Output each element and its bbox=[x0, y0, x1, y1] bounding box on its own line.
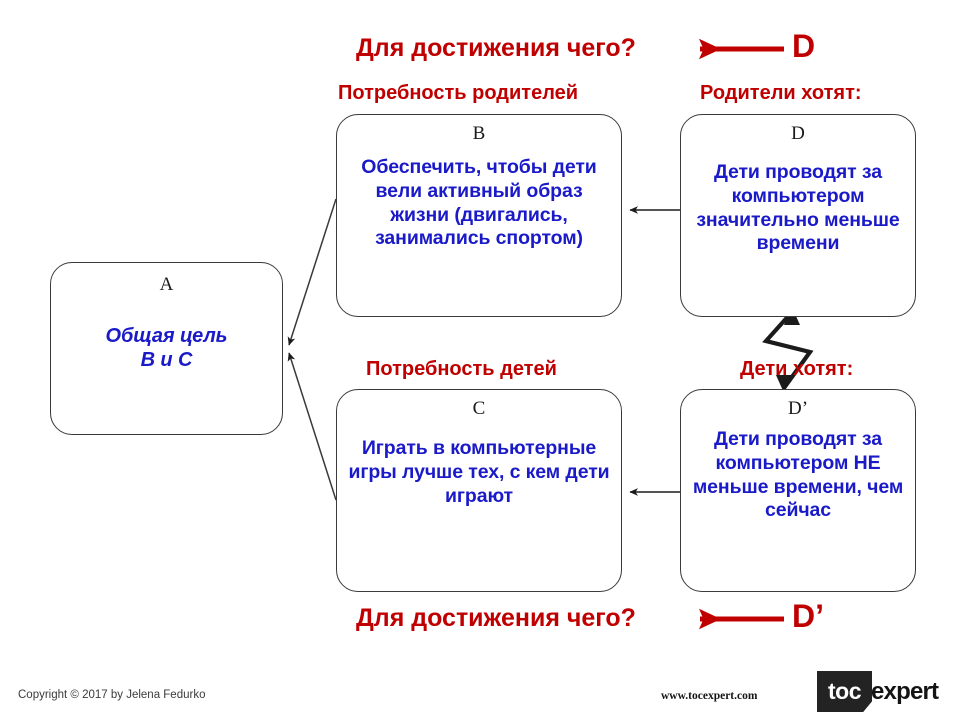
node-d-parents-want[interactable]: D Дети проводят за компьютером значитель… bbox=[680, 114, 916, 317]
node-dprime-children-want[interactable]: D’ Дети проводят за компьютером НЕ меньш… bbox=[680, 389, 916, 592]
connector-b-to-a bbox=[289, 199, 336, 345]
goal-question-bottom: Для достижения чего? bbox=[356, 604, 636, 633]
tocexpert-logo: toc expert bbox=[817, 671, 945, 712]
node-c-child-need[interactable]: C Играть в компьютерные игры лучше тех, … bbox=[336, 389, 622, 592]
logo-mark-toc: toc bbox=[817, 671, 872, 712]
node-d-tag: D bbox=[791, 124, 805, 143]
node-c-tag: C bbox=[473, 399, 486, 418]
logo-word-expert: expert bbox=[871, 678, 938, 706]
goal-question-top: Для достижения чего? bbox=[356, 34, 636, 63]
copyright-text: Copyright © 2017 by Jelena Fedurko bbox=[18, 689, 205, 701]
node-d-text: Дети проводят за компьютером значительно… bbox=[687, 161, 909, 256]
node-dprime-text: Дети проводят за компьютером НЕ меньше в… bbox=[687, 428, 909, 523]
node-b-text: Обеспечить, чтобы дети вели активный обр… bbox=[353, 156, 605, 251]
connector-c-to-a bbox=[289, 353, 336, 500]
website-url: www.tocexpert.com bbox=[661, 690, 757, 702]
label-children-want: Дети хотят: bbox=[740, 358, 853, 381]
node-b-parent-need[interactable]: B Обеспечить, чтобы дети вели активный о… bbox=[336, 114, 622, 317]
injection-label-d: D bbox=[792, 28, 815, 65]
label-need-children: Потребность детей bbox=[366, 358, 557, 381]
label-parents-want: Родители хотят: bbox=[700, 82, 862, 105]
node-c-text: Играть в компьютерные игры лучше тех, с … bbox=[345, 437, 613, 508]
node-dprime-tag: D’ bbox=[788, 399, 808, 418]
node-a-text: Общая цельВ и С bbox=[106, 324, 228, 373]
node-b-tag: B bbox=[473, 124, 486, 143]
node-a-tag: A bbox=[160, 275, 174, 294]
node-a-common-goal[interactable]: A Общая цельВ и С bbox=[50, 262, 283, 435]
label-need-parents: Потребность родителей bbox=[338, 82, 578, 105]
injection-label-d-prime: D’ bbox=[792, 598, 824, 635]
diagram-canvas: Для достижения чего? D Потребность родит… bbox=[0, 0, 960, 720]
